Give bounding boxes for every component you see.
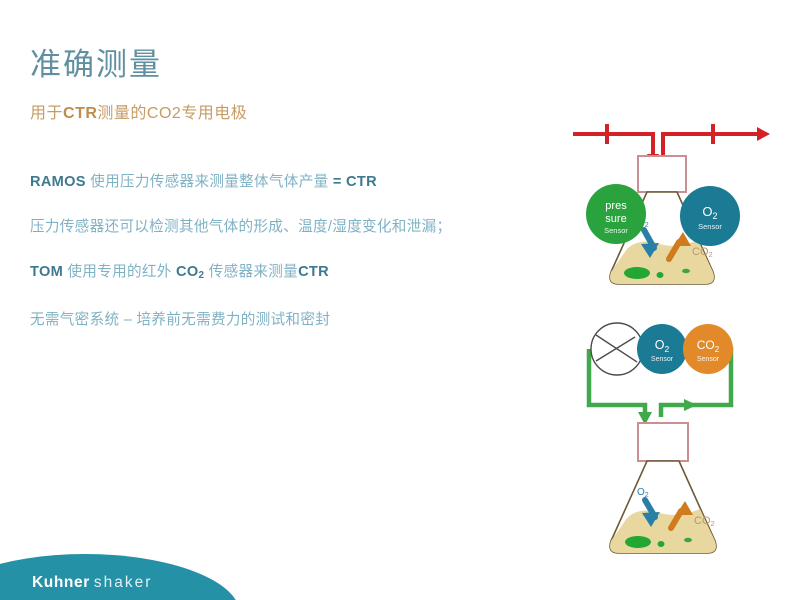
- o2-sensor-sublabel: Sensor: [698, 222, 722, 231]
- co2-arrow-label: CO2: [692, 246, 713, 259]
- co2-arrow-label: CO2: [694, 515, 715, 528]
- media-colony-tiny: [682, 269, 690, 273]
- media-colony-large: [625, 536, 651, 548]
- ramos-equals-ctr: = CTR: [333, 174, 377, 190]
- o2-sensor-sublabel: Sensor: [651, 356, 674, 363]
- subtitle-bold-ctr: CTR: [63, 105, 97, 122]
- paragraph-tom: TOM 使用专用的红外 CO2 传感器来测量CTR: [30, 260, 480, 288]
- tom-text: 使用专用的红外: [63, 264, 176, 280]
- tom-label: TOM: [30, 264, 63, 280]
- logo-shaker: shaker: [94, 574, 153, 591]
- subtitle-prefix: 用于: [30, 105, 63, 122]
- kuhner-shaker-logo: Kuhnershaker: [32, 574, 152, 592]
- slide-canvas: 准确测量 用于CTR测量的CO2专用电极 RAMOS 使用压力传感器来测量整体气…: [0, 0, 800, 600]
- ramos-text: 使用压力传感器来测量整体气体产量: [86, 174, 333, 190]
- tom-ctr: CTR: [298, 264, 329, 280]
- page-title: 准确测量: [30, 48, 162, 82]
- paragraph-pressure-sensor: 压力传感器还可以检测其他气体的形成、温度/湿度变化和泄漏；: [30, 215, 480, 240]
- media-colony-small: [658, 541, 665, 547]
- paragraph-ramos: RAMOS 使用压力传感器来测量整体气体产量 = CTR: [30, 170, 480, 195]
- tom-text2: 传感器来测量: [204, 264, 298, 280]
- pressure-sensor-label-2: sure: [605, 213, 626, 225]
- ramos-label: RAMOS: [30, 174, 86, 190]
- tom-co2-sensor-loop-diagram: O2 Sensor CO2 Sensor O2 CO2: [565, 315, 790, 560]
- flask-neck-box: [638, 156, 686, 192]
- pressure-sensor-label: pres: [605, 200, 627, 212]
- body-text-block: RAMOS 使用压力传感器来测量整体气体产量 = CTR 压力传感器还可以检测其…: [30, 170, 480, 353]
- loop-flow-arrowhead: [684, 399, 697, 411]
- subtitle-suffix: 测量的CO2专用电极: [97, 105, 247, 122]
- red-gas-pipe: [573, 134, 761, 158]
- logo-kuhner: Kuhner: [32, 574, 90, 591]
- pipe-right-arrowhead: [757, 127, 770, 141]
- media-colony-small: [657, 272, 664, 278]
- pressure-sensor-sublabel: Sensor: [604, 226, 628, 235]
- flask-neck-box: [638, 423, 688, 461]
- tom-co2-formula: CO2: [176, 264, 204, 280]
- page-subtitle: 用于CTR测量的CO2专用电极: [30, 104, 247, 123]
- co2-base: CO: [176, 264, 199, 280]
- ramos-pressure-sensor-diagram: O2 CO2 pres sure Sensor O2 Sensor: [565, 112, 790, 307]
- media-colony-tiny: [684, 538, 692, 542]
- co2-sensor-sublabel: Sensor: [697, 356, 720, 363]
- paragraph-gas-tight: 无需气密系统 – 培养前无需费力的测试和密封: [30, 308, 480, 333]
- media-colony-large: [624, 267, 650, 279]
